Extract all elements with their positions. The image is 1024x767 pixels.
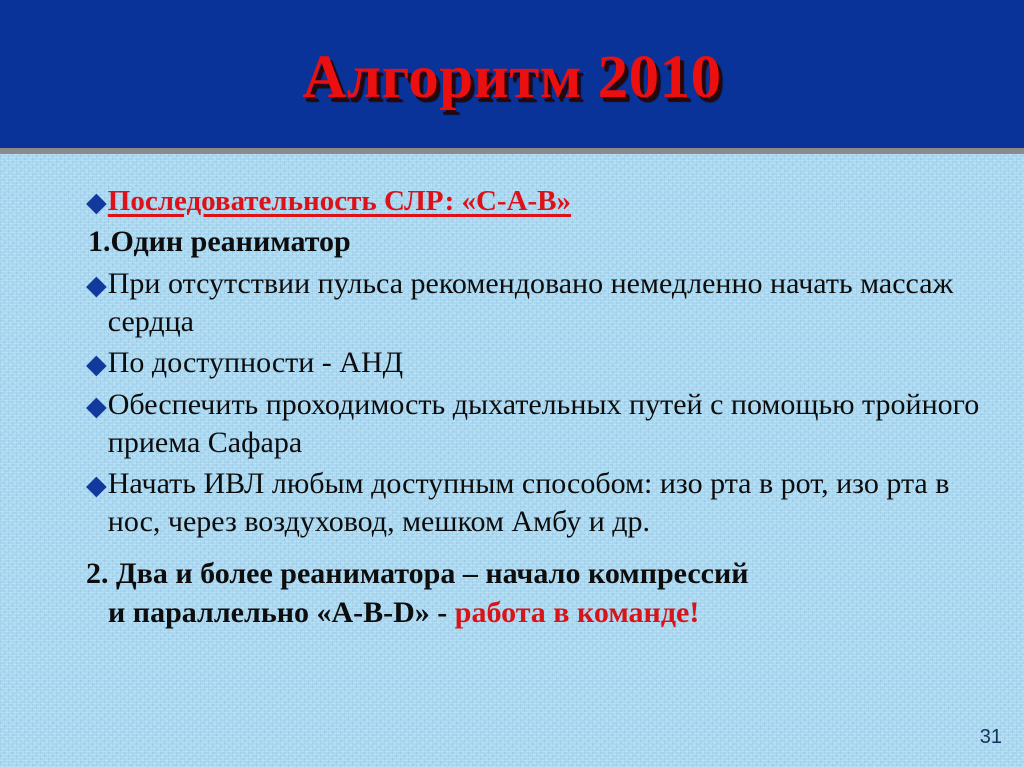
bullet-item: ◆ Начать ИВЛ любым доступным способом: и… bbox=[86, 465, 994, 541]
diamond-bullet-icon: ◆ bbox=[86, 266, 107, 305]
page-number: 31 bbox=[980, 726, 1002, 749]
rescuer-two-line2: и параллельно «A-B-D» - работа в команде… bbox=[86, 593, 994, 632]
diamond-bullet-icon: ◆ bbox=[86, 466, 107, 505]
cpr-sequence-heading: Последовательность СЛР: «С-А-В» bbox=[108, 182, 571, 221]
diamond-bullet-icon: ◆ bbox=[86, 387, 107, 426]
teamwork-accent-text: работа в команде! bbox=[455, 596, 700, 629]
diamond-bullet-icon: ◆ bbox=[86, 183, 107, 222]
header-divider bbox=[0, 148, 1024, 154]
slide-header-banner: Алгоритм 2010 bbox=[0, 0, 1024, 148]
rescuer-one-label-row: 1.Один реаниматор bbox=[86, 222, 994, 261]
slide-canvas: Алгоритм 2010 ◆ Последовательность СЛР: … bbox=[0, 0, 1024, 767]
slide-content: ◆ Последовательность СЛР: «С-А-В» 1.Один… bbox=[0, 154, 1024, 767]
bullet-text-airway-safar: Обеспечить проходимость дыхательных путе… bbox=[108, 386, 994, 462]
rescuer-one-label: 1.Один реаниматор bbox=[88, 222, 351, 261]
bullet-item: ◆ Обеспечить проходимость дыхательных пу… bbox=[86, 386, 994, 462]
bullet-item: ◆ По доступности - АНД bbox=[86, 344, 994, 383]
rescuer-two-line1: 2. Два и более реаниматора – начало комп… bbox=[86, 554, 994, 593]
bullet-text-pulse-massage: При отсутствии пульса рекомендовано неме… bbox=[108, 265, 994, 341]
heading-bullet-row: ◆ Последовательность СЛР: «С-А-В» bbox=[86, 182, 994, 221]
bullet-text-ventilation: Начать ИВЛ любым доступным способом: изо… bbox=[108, 465, 994, 541]
slide-title: Алгоритм 2010 bbox=[302, 47, 721, 108]
rescuer-two-line2-black: и параллельно «A-B-D» - bbox=[108, 596, 455, 629]
bullet-text-aed: По доступности - АНД bbox=[108, 344, 403, 382]
bullet-item: ◆ При отсутствии пульса рекомендовано не… bbox=[86, 265, 994, 341]
diamond-bullet-icon: ◆ bbox=[86, 345, 107, 384]
rescuer-two-block: 2. Два и более реаниматора – начало комп… bbox=[86, 554, 994, 632]
